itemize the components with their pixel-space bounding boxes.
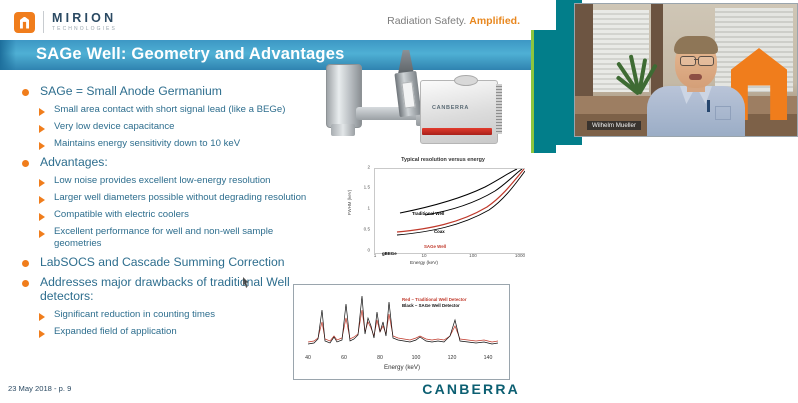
glasses-right-lens-icon xyxy=(698,56,714,66)
list-item: SAGe = Small Anode Germanium xyxy=(22,84,322,99)
sub-bullet-text: Very low device capacitance xyxy=(54,121,175,133)
bullet-dot-icon xyxy=(22,89,29,96)
bullet-triangle-icon xyxy=(39,142,45,150)
sub-bullet-text: Significant reduction in counting times xyxy=(54,309,215,321)
chart-legend: Red – Traditional Well Detector Black – … xyxy=(402,297,467,310)
bullet-text: LabSOCS and Cascade Summing Correction xyxy=(40,255,285,270)
y-axis-ticks: 0 0.5 1 1.5 2 xyxy=(350,166,372,254)
x-tick: 1000 xyxy=(515,253,525,258)
x-axis-label: Energy (keV) xyxy=(410,261,438,266)
tagline-plain: Radiation Safety. xyxy=(387,15,466,27)
slide-header: MIRION TECHNOLOGIES Radiation Safety. Am… xyxy=(0,2,556,37)
participant-name-label: Wilhelm Mueller xyxy=(587,121,641,130)
detector-port-icon xyxy=(454,75,478,86)
x-tick: 100 xyxy=(469,253,477,258)
bullet-text: SAGe = Small Anode Germanium xyxy=(40,84,222,99)
x-tick: 10 xyxy=(421,253,426,258)
pen-icon xyxy=(707,100,710,112)
resolution-curves xyxy=(375,169,525,253)
mirion-wordmark: MIRION TECHNOLOGIES xyxy=(52,12,117,32)
video-panel: Wilhelm Mueller xyxy=(556,0,798,403)
series-annotation-traditional: Traditional Well xyxy=(412,211,444,216)
tagline-accent: Amplified. xyxy=(469,15,520,27)
list-item: LabSOCS and Cascade Summing Correction xyxy=(22,255,322,270)
y-tick: 2 xyxy=(367,165,370,170)
mirion-mark-icon xyxy=(14,12,35,33)
presenter-mouth xyxy=(689,74,702,80)
bullet-group: SAGe = Small Anode Germanium Small area … xyxy=(22,84,322,150)
y-tick: 0 xyxy=(367,248,370,253)
bullet-triangle-icon xyxy=(39,179,45,187)
x-tick: 140 xyxy=(484,355,493,361)
x-axis-ticks: 40 60 80 100 120 140 xyxy=(304,355,502,364)
detector-red-stripe xyxy=(422,128,492,135)
x-tick: 120 xyxy=(448,355,457,361)
list-item: Small area contact with short signal lea… xyxy=(39,104,322,116)
list-item: Compatible with electric coolers xyxy=(39,209,322,221)
sub-bullet-text: Expanded field of application xyxy=(54,326,177,338)
detector-fins-icon xyxy=(496,84,502,134)
y-tick: 1.5 xyxy=(364,185,370,190)
resolution-chart: Typical resolution versus energy 0 0.5 1… xyxy=(348,156,538,272)
bullet-triangle-icon xyxy=(39,196,45,204)
chart-plot-area xyxy=(374,168,525,254)
list-item: Advantages: xyxy=(22,155,322,170)
bullet-group: Addresses major drawbacks of traditional… xyxy=(22,275,322,339)
list-item: Excellent performance for well and non-w… xyxy=(39,226,322,250)
canberra-logo: CANBERRA xyxy=(422,381,520,397)
logo-divider xyxy=(43,11,44,33)
x-tick: 60 xyxy=(341,355,347,361)
list-item: Addresses major drawbacks of traditional… xyxy=(22,275,322,305)
bullet-triangle-icon xyxy=(39,313,45,321)
x-axis-label: Energy (keV) xyxy=(384,364,420,371)
slide-date: 23 May 2018 - p. 9 xyxy=(8,384,71,393)
detector-product-photo xyxy=(312,44,504,156)
list-item: Low noise provides excellent low-energy … xyxy=(39,175,322,187)
glasses-left-lens-icon xyxy=(680,56,696,66)
mirion-name: MIRION xyxy=(52,12,117,25)
slide-area: MIRION TECHNOLOGIES Radiation Safety. Am… xyxy=(0,0,556,403)
brand-tagline: Radiation Safety. Amplified. xyxy=(387,15,520,27)
x-tick: 80 xyxy=(377,355,383,361)
bullet-text: Addresses major drawbacks of traditional… xyxy=(40,275,322,305)
x-tick: 1 xyxy=(374,253,377,258)
page-title: SAGe Well: Geometry and Advantages xyxy=(36,45,344,64)
list-item: Maintains energy sensitivity down to 10 … xyxy=(39,138,322,150)
bullet-dot-icon xyxy=(22,280,29,287)
bullet-dot-icon xyxy=(22,260,29,267)
series-annotation-sage: SAGe Well xyxy=(424,244,446,249)
bullet-list: SAGe = Small Anode Germanium Small area … xyxy=(22,84,322,343)
sub-bullet-text: Maintains energy sensitivity down to 10 … xyxy=(54,138,240,150)
bullet-triangle-icon xyxy=(39,108,45,116)
x-tick: 40 xyxy=(305,355,311,361)
list-item: Very low device capacitance xyxy=(39,121,322,133)
presenter-figure xyxy=(647,34,745,136)
bullet-text: Advantages: xyxy=(40,155,108,170)
sub-bullet-text: Small area contact with short signal lea… xyxy=(54,104,285,116)
bullet-triangle-icon xyxy=(39,213,45,221)
presenter-hair xyxy=(674,36,718,54)
y-tick: 0.5 xyxy=(364,227,370,232)
spectrum-chart: Red – Traditional Well Detector Black – … xyxy=(293,284,510,380)
sub-bullet-text: Larger well diameters possible without d… xyxy=(54,192,306,204)
bullet-triangle-icon xyxy=(39,125,45,133)
series-annotation-coax: Coax xyxy=(434,229,445,234)
mirion-subtitle: TECHNOLOGIES xyxy=(52,27,117,32)
sub-bullet-text: Low noise provides excellent low-energy … xyxy=(54,175,271,187)
x-axis-ticks: 1 10 100 1000 xyxy=(368,253,530,263)
sub-bullet-text: Excellent performance for well and non-w… xyxy=(54,226,322,250)
y-tick: 1 xyxy=(367,206,370,211)
cryostat-foot-icon xyxy=(331,124,355,136)
mirion-logo: MIRION TECHNOLOGIES xyxy=(14,11,117,33)
teal-edge-bar xyxy=(534,30,556,153)
participant-video[interactable]: Wilhelm Mueller xyxy=(574,3,798,137)
bullet-triangle-icon xyxy=(39,230,45,238)
bullet-group: Advantages: Low noise provides excellent… xyxy=(22,155,322,250)
glasses-bridge-icon xyxy=(694,59,698,60)
bullet-group: LabSOCS and Cascade Summing Correction xyxy=(22,255,322,270)
sub-bullet-text: Compatible with electric coolers xyxy=(54,209,189,221)
chart-title: Typical resolution versus energy xyxy=(348,156,538,163)
list-item: Significant reduction in counting times xyxy=(39,309,322,321)
y-axis-label: FWHM (keV) xyxy=(347,190,352,215)
shirt-pocket xyxy=(715,106,731,120)
list-item: Larger well diameters possible without d… xyxy=(39,192,322,204)
bullet-triangle-icon xyxy=(39,330,45,338)
list-item: Expanded field of application xyxy=(39,326,322,338)
x-tick: 100 xyxy=(412,355,421,361)
video-panel-blank-area xyxy=(582,145,798,403)
legend-item-sage: Black – SAGe Well Detector xyxy=(402,303,467,309)
presentation-screen: MIRION TECHNOLOGIES Radiation Safety. Am… xyxy=(0,0,798,403)
bullet-dot-icon xyxy=(22,160,29,167)
